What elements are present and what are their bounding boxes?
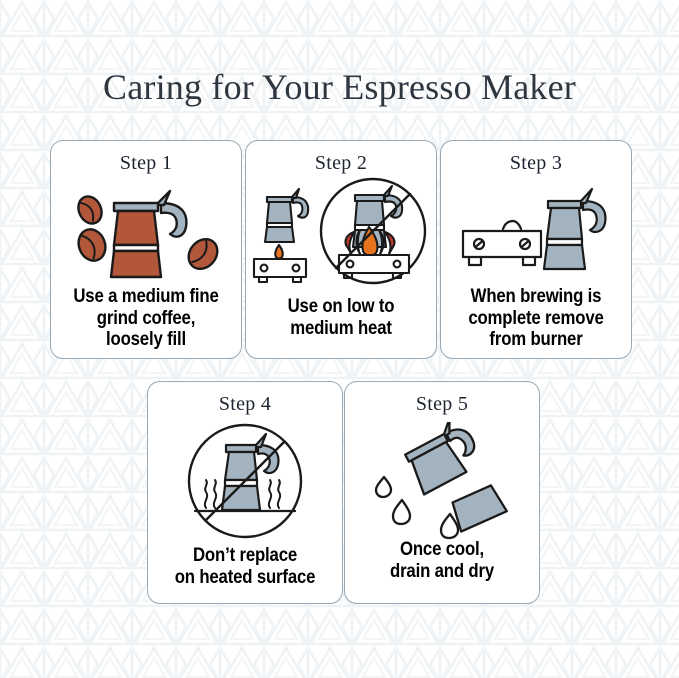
coffee-bean-icon (183, 233, 223, 274)
caption-line: medium heat (259, 318, 422, 340)
water-drop-icon (441, 514, 458, 538)
caption-line: from burner (454, 329, 617, 351)
coffee-bean-icon (74, 193, 106, 228)
pot-lower-chamber (111, 251, 161, 277)
step-card-5[interactable]: Step 5 (344, 381, 540, 604)
caption-line: When brewing is (454, 286, 617, 308)
crossed-out-high-flame (321, 179, 425, 283)
stove-off (463, 221, 541, 265)
step-label-1: Step 1 (51, 152, 241, 175)
caption-line: grind coffee, (64, 308, 227, 330)
illustration-pot-removed-from-stove (441, 181, 631, 281)
illustration-low-heat-vs-high-heat (246, 181, 436, 281)
illustration-crossed-out-pot-on-hot-surface (148, 422, 342, 540)
pot-upper-chamber (114, 211, 158, 245)
page-title: Caring for Your Espresso Maker (0, 66, 679, 108)
illustration-disassembled-pot-draining (345, 422, 539, 540)
moka-pot-gray (544, 189, 605, 269)
coffee-bean-icon (74, 226, 109, 265)
caption-line: on heated surface (162, 567, 329, 589)
step-label-4: Step 4 (148, 393, 342, 416)
step-card-2[interactable]: Step 2 (245, 140, 437, 359)
step-card-3[interactable]: Step 3 (440, 140, 632, 359)
caption-line: complete remove (454, 308, 617, 330)
caption-line: Use on low to (259, 296, 422, 318)
step-caption-2: Use on low to medium heat (259, 296, 422, 339)
step-card-4[interactable]: Step 4 (147, 381, 343, 604)
step-label-3: Step 3 (441, 152, 631, 175)
water-drop-icon (393, 500, 410, 524)
step-caption-1: Use a medium fine grind coffee, loosely … (64, 286, 227, 351)
caption-line: loosely fill (64, 329, 227, 351)
step-label-2: Step 2 (246, 152, 436, 175)
step-card-1[interactable]: Step 1 (50, 140, 242, 359)
pot-on-low-flame (254, 189, 308, 282)
step-caption-4: Don’t replace on heated surface (162, 545, 329, 588)
step-caption-5: Once cool, drain and dry (359, 539, 526, 582)
caption-line: Once cool, (359, 539, 526, 561)
step-caption-3: When brewing is complete remove from bur… (454, 286, 617, 351)
illustration-moka-pot-with-coffee-beans (51, 181, 241, 281)
caption-line: drain and dry (359, 561, 526, 583)
caption-line: Don’t replace (162, 545, 329, 567)
step-label-5: Step 5 (345, 393, 539, 416)
pot-handle (161, 203, 186, 237)
caption-line: Use a medium fine (64, 286, 227, 308)
pot-upper-chamber-tilted (398, 422, 484, 494)
water-drop-icon (376, 477, 391, 497)
